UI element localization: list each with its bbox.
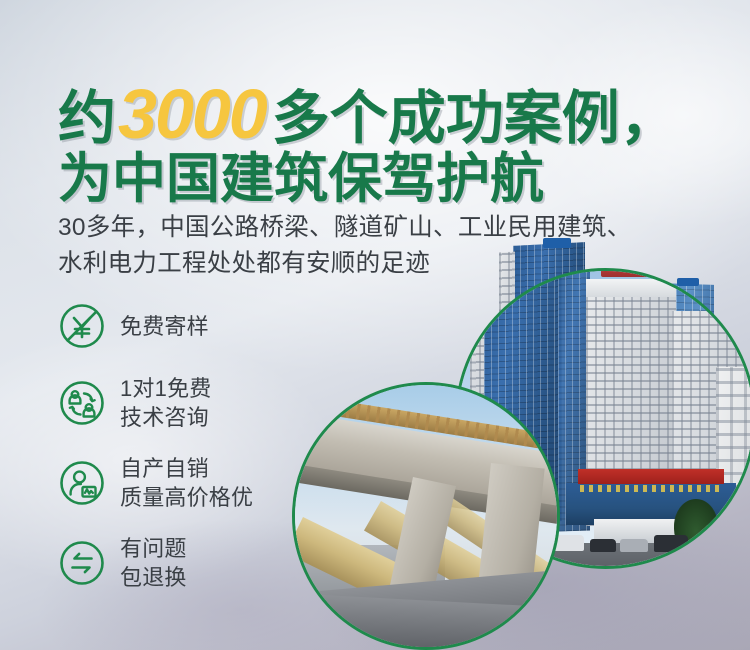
- podium-red-sign: [578, 469, 724, 484]
- headline-number: 3000: [116, 75, 272, 153]
- feature-line: 技术咨询: [120, 403, 211, 432]
- feature-line: 1对1免费: [120, 374, 211, 403]
- podium-gold-lettering: [580, 485, 722, 492]
- feature-list: 免费寄样 1对1免费 技术咨询: [58, 300, 308, 614]
- car-silver: [620, 539, 648, 552]
- two-people-exchange-icon: [58, 379, 106, 427]
- feature-item-tech-consult[interactable]: 1对1免费 技术咨询: [58, 374, 308, 432]
- person-chart-icon: [58, 459, 106, 507]
- feature-label: 1对1免费 技术咨询: [120, 374, 211, 432]
- feature-label: 自产自销 质量高价格优: [120, 454, 253, 512]
- promo-banner: 约3000多个成功案例， 为中国建筑保驾护航 30多年，中国公路桥梁、隧道矿山、…: [0, 0, 750, 650]
- feature-line: 自产自销: [120, 454, 253, 483]
- feature-label: 免费寄样: [120, 312, 209, 341]
- bridge-underside-photo: [292, 382, 560, 650]
- no-fee-yuan-icon: [58, 302, 106, 350]
- car-dark-2: [696, 539, 718, 551]
- headline-line-1: 约3000多个成功案例，: [58, 78, 678, 150]
- subtitle-line-2: 水利电力工程处处都有安顺的足迹: [58, 246, 631, 282]
- subtitle: 30多年，中国公路桥梁、隧道矿山、工业民用建筑、 水利电力工程处处都有安顺的足迹: [58, 210, 631, 282]
- feature-label: 有问题 包退换: [120, 534, 187, 592]
- feature-item-free-sample[interactable]: 免费寄样: [58, 300, 308, 352]
- feature-line: 包退换: [120, 563, 187, 592]
- feature-line: 有问题: [120, 534, 187, 563]
- headline-line-2: 为中国建筑保驾护航: [58, 146, 678, 212]
- car-white: [554, 535, 584, 551]
- swap-arrows-icon: [58, 539, 106, 587]
- headline-prefix: 约: [58, 86, 116, 151]
- headline-suffix: 多个成功案例，: [272, 86, 678, 151]
- headline: 约3000多个成功案例， 为中国建筑保驾护航: [58, 78, 678, 212]
- car-dark-1: [590, 539, 616, 552]
- feature-line: 免费寄样: [120, 312, 209, 341]
- feature-line: 质量高价格优: [120, 483, 253, 512]
- feature-item-return-exchange[interactable]: 有问题 包退换: [58, 534, 308, 592]
- feature-item-self-produced[interactable]: 自产自销 质量高价格优: [58, 454, 308, 512]
- subtitle-line-1: 30多年，中国公路桥梁、隧道矿山、工业民用建筑、: [58, 210, 631, 246]
- car-van: [654, 535, 688, 552]
